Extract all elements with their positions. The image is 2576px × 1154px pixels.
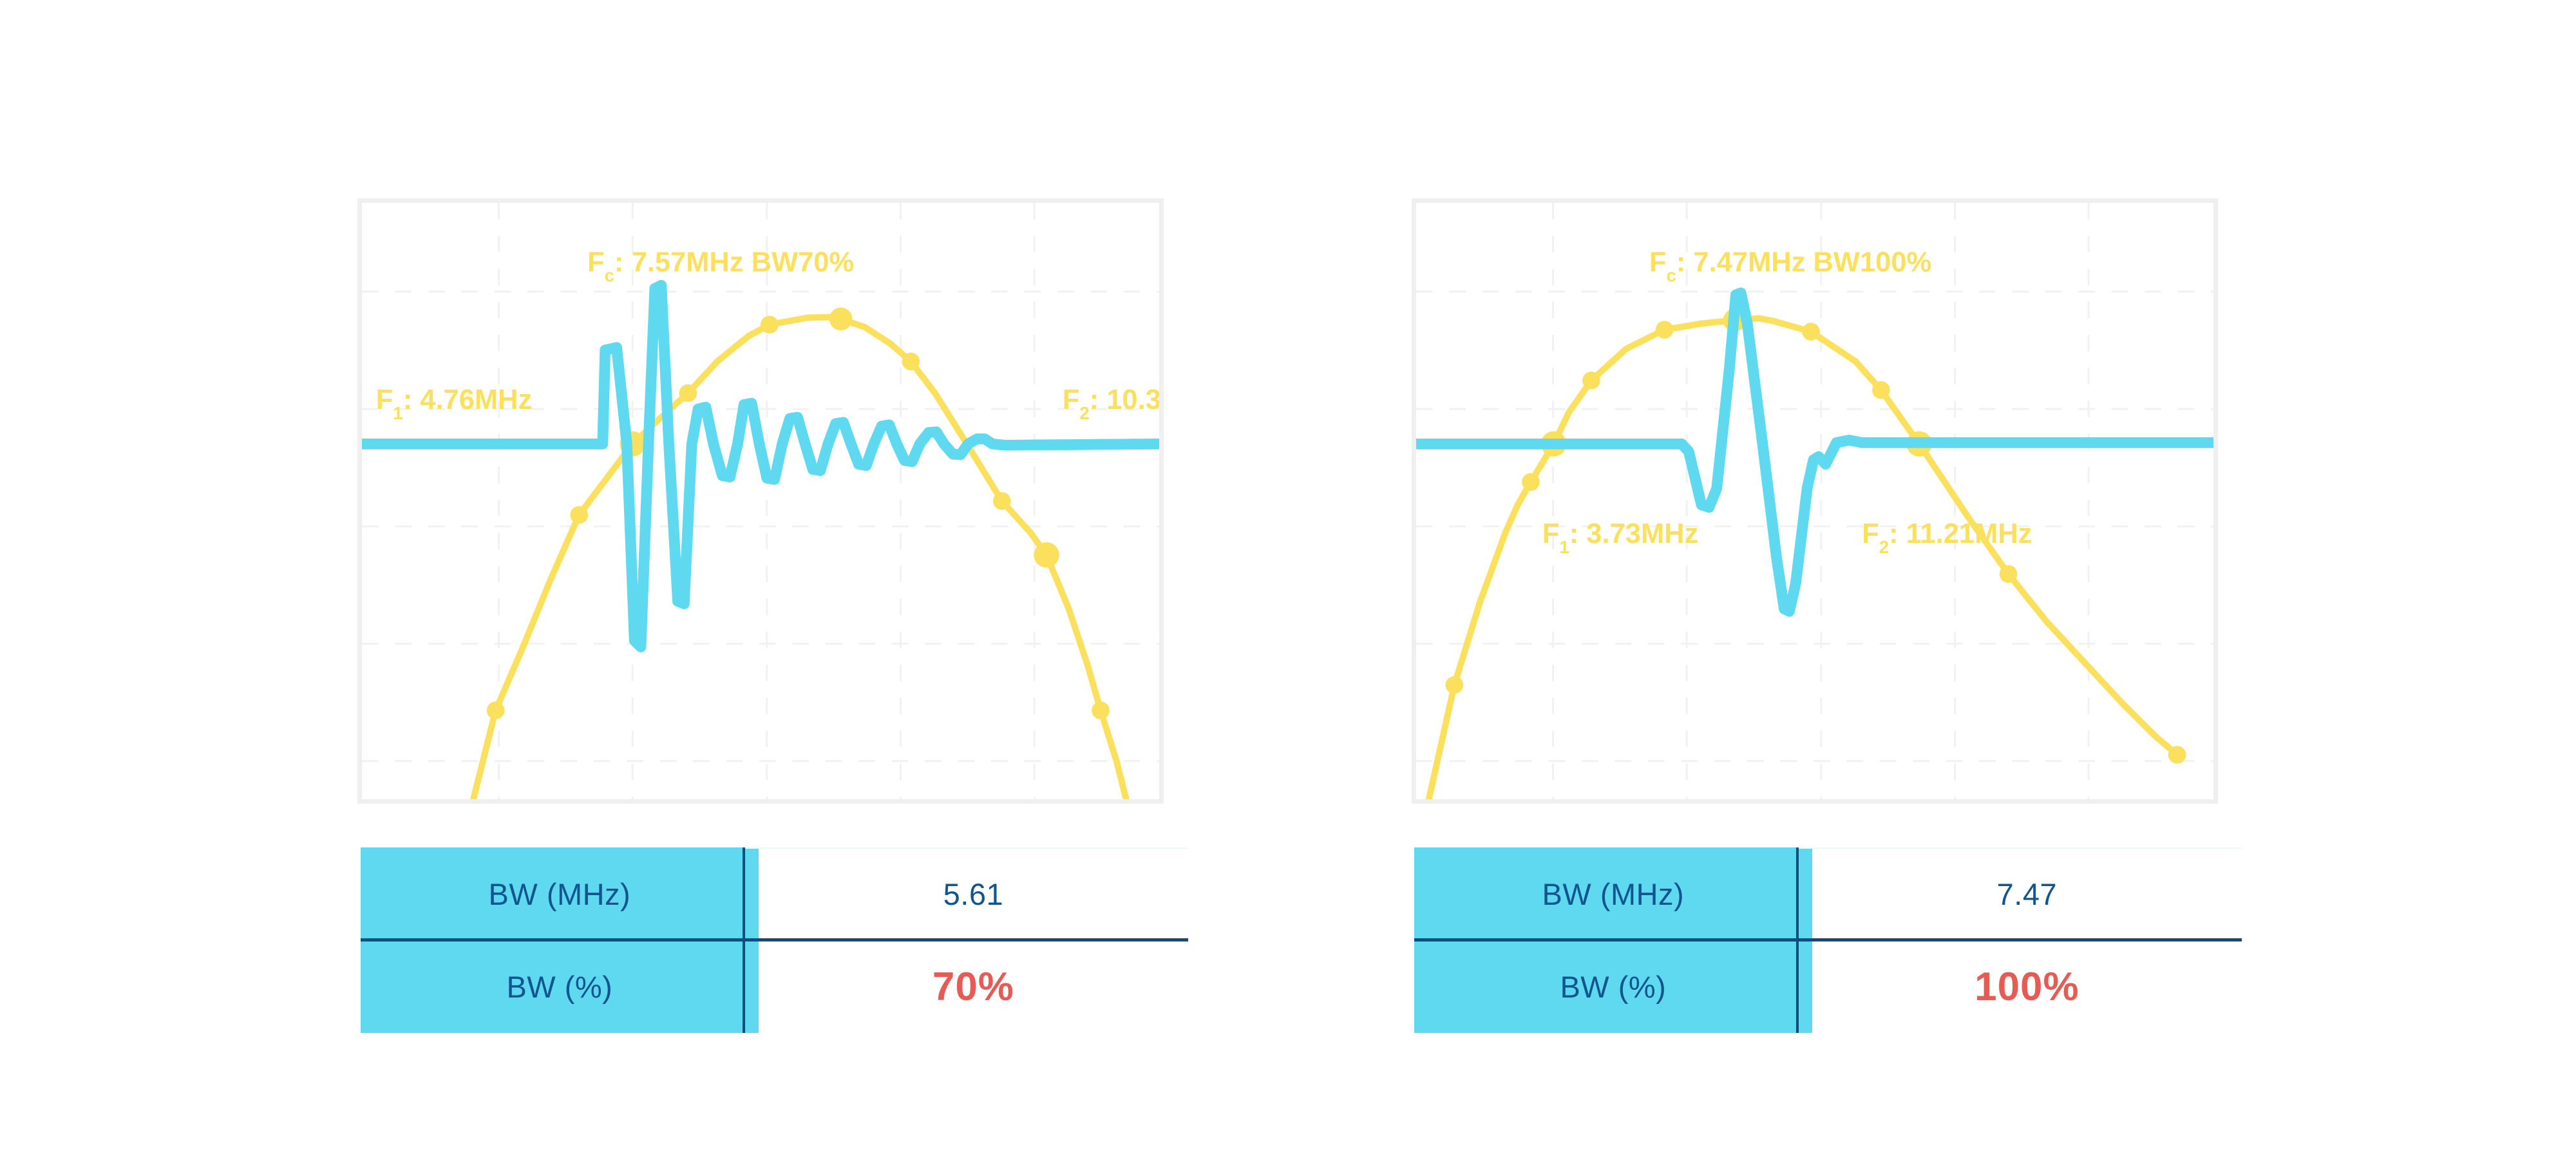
panel-left: Fc: 7.57MHz BW70% F1: 4.76MHz F2: 10.37M… (357, 198, 1164, 804)
f1-symbol-right: F (1542, 518, 1560, 549)
label-f2-left: F2: 10.37MHz (1063, 384, 1159, 423)
fc-text-left: : 7.57MHz BW70% (614, 247, 854, 278)
table-cell-value-bw-pct-right: 100% (1812, 940, 2242, 1033)
f1-subscript-left: 1 (393, 403, 402, 423)
panel-right: Fc: 7.47MHz BW100% F1: 3.73MHz F2: 11.21… (1412, 198, 2218, 804)
f2-text-right: : 11.21MHz (1889, 518, 2032, 549)
bw-table-left: BW (MHz) 5.61 BW (%) 70% (361, 847, 1188, 1033)
table-cell-label-bw-pct-left: BW (%) (361, 940, 759, 1033)
label-f1-left: F1: 4.76MHz (376, 384, 533, 423)
table-cell-value-bw-mhz-right: 7.47 (1812, 847, 2242, 940)
fc-subscript-right: c (1666, 265, 1676, 285)
table-cell-value-bw-pct-left: 70% (759, 940, 1188, 1033)
f1-symbol-left: F (376, 384, 393, 415)
figure-root: Fc: 7.57MHz BW70% F1: 4.76MHz F2: 10.37M… (0, 0, 2576, 1154)
table-cell-label-bw-mhz-left: BW (MHz) (361, 847, 759, 940)
table-top-hairline-right (1797, 847, 2242, 849)
f2-symbol-left: F (1063, 384, 1080, 415)
chart-right: Fc: 7.47MHz BW100% F1: 3.73MHz F2: 11.21… (1416, 203, 2213, 799)
gridlines (362, 203, 1159, 799)
bw-table-right: BW (MHz) 7.47 BW (%) 100% (1414, 847, 2242, 1033)
f1-subscript-right: 1 (1559, 537, 1569, 557)
chart-frame-left: Fc: 7.57MHz BW70% F1: 4.76MHz F2: 10.37M… (357, 198, 1164, 804)
f1-text-right: : 3.73MHz (1569, 518, 1699, 549)
fc-symbol-left: F (587, 247, 605, 278)
fc-subscript-left: c (605, 265, 614, 285)
f2-text-left: : 10.37MHz (1090, 384, 1159, 415)
gridlines (1416, 203, 2213, 799)
label-f2-right: F2: 11.21MHz (1862, 518, 2032, 557)
f2-subscript-right: 2 (1879, 537, 1889, 557)
table-horizontal-rule-right (1414, 938, 2242, 941)
chart-left: Fc: 7.57MHz BW70% F1: 4.76MHz F2: 10.37M… (362, 203, 1159, 799)
fc-symbol-right: F (1649, 247, 1667, 278)
label-f1-right: F1: 3.73MHz (1542, 518, 1699, 557)
chart-frame-right: Fc: 7.47MHz BW100% F1: 3.73MHz F2: 11.21… (1412, 198, 2218, 804)
pulse-waveform-right (1416, 293, 2213, 612)
label-fc-right: Fc: 7.47MHz BW100% (1649, 247, 1931, 285)
table-top-hairline-left (744, 847, 1188, 849)
fc-text-right: : 7.47MHz BW100% (1676, 247, 1931, 278)
table-cell-value-bw-mhz-left: 5.61 (759, 847, 1188, 940)
spectrum-curve-left (460, 317, 1126, 799)
pulse-waveform-left (362, 285, 1159, 647)
f2-subscript-left: 2 (1079, 403, 1089, 423)
table-horizontal-rule-left (361, 938, 1188, 941)
table-cell-label-bw-mhz-right: BW (MHz) (1414, 847, 1812, 940)
table-cell-label-bw-pct-right: BW (%) (1414, 940, 1812, 1033)
f2-symbol-right: F (1862, 518, 1879, 549)
f1-text-left: : 4.76MHz (403, 384, 533, 415)
label-fc-left: Fc: 7.57MHz BW70% (587, 247, 854, 285)
